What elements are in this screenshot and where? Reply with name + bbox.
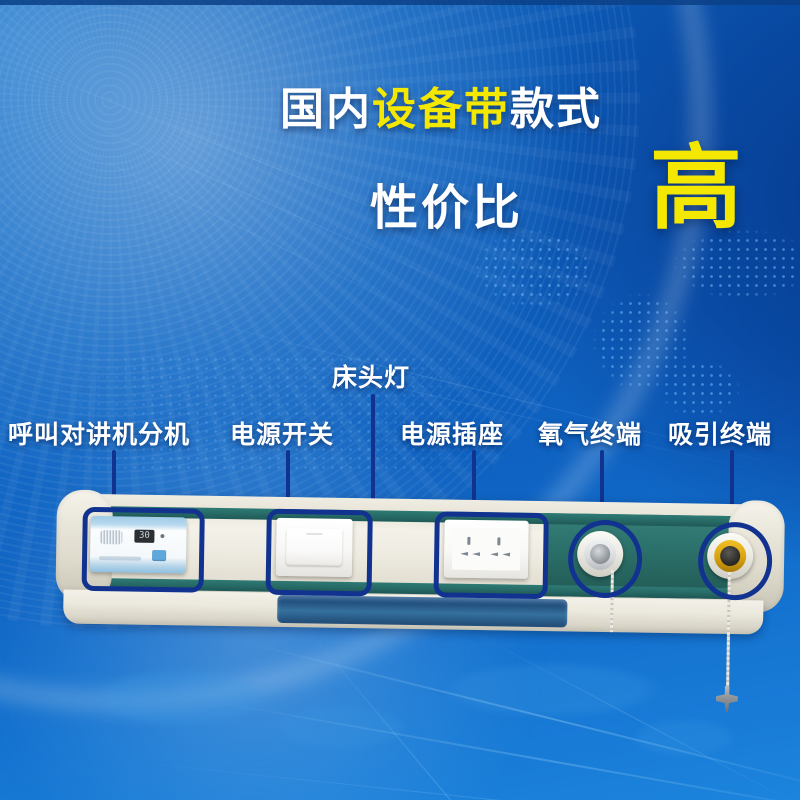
callout-label-suction-terminal: 吸引终端 (668, 415, 772, 451)
callout-label-power-socket: 电源插座 (400, 415, 504, 451)
bed-head-unit: 30 (27, 489, 795, 641)
highlight-box-power-switch (266, 509, 373, 597)
highlight-box-power-socket (433, 511, 548, 599)
headline-subtitle: 性价比 (370, 168, 523, 238)
headline-part2: 款式 (510, 85, 602, 134)
highlight-box-intercom (82, 507, 205, 593)
bed-lamp-diffuser[interactable] (277, 595, 567, 628)
headline-title: 国内设备带款式 (280, 88, 680, 132)
headline-highlight: 设备带 (372, 85, 510, 134)
callout-label-bed-lamp: 床头灯 (332, 358, 410, 394)
callout-label-intercom: 呼叫对讲机分机 (8, 415, 190, 451)
callout-label-power-switch: 电源开关 (230, 415, 334, 451)
poster-canvas: 国内设备带款式 性价比 高 呼叫对讲机分机 电源开关 床头灯 电源插座 氧气终端… (0, 0, 800, 800)
headline-emphasis-char: 高 (650, 143, 742, 235)
headline-part1: 国内 (280, 85, 372, 134)
callout-label-oxygen-terminal: 氧气终端 (538, 415, 642, 451)
